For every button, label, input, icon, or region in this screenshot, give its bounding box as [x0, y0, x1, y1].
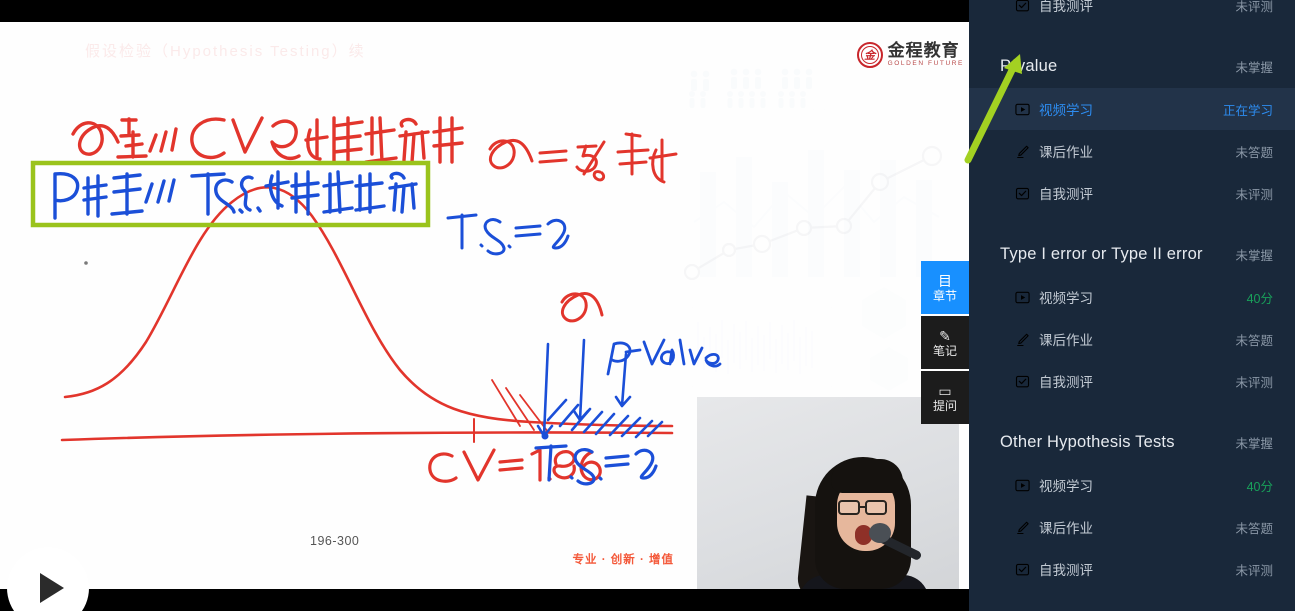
brand-seal-icon: 金 [857, 42, 883, 68]
row-left: 视频学习 [1015, 99, 1093, 119]
row-status: 未评测 [1235, 184, 1273, 203]
play-icon [40, 573, 64, 603]
tool-label-notes: 笔记 [933, 345, 957, 357]
section-spacer [969, 214, 1295, 231]
row-left: 自我测评 [1015, 0, 1093, 15]
ink-text-line2 [55, 172, 416, 218]
tool-label-ask: 提问 [933, 400, 957, 412]
row-status: 未答题 [1235, 330, 1273, 349]
row-status: 40分 [1247, 288, 1273, 307]
section-title: Type I error or Type II error [1000, 245, 1203, 264]
section-title: Other Hypothesis Tests [1000, 433, 1175, 452]
highlight-box [33, 163, 428, 225]
row-label: 视频学习 [1039, 99, 1093, 119]
brand-name-cn: 金程教育 [888, 42, 964, 59]
outline-row-视频学习[interactable]: 视频学习正在学习 [969, 88, 1295, 130]
outline-row-自我测评[interactable]: 自我测评未评测 [969, 0, 1295, 26]
checkbox-icon [1015, 0, 1030, 13]
slide-page-number: 196-300 [310, 534, 359, 548]
pencil-icon [1015, 332, 1030, 347]
pencil-icon: ✎ [939, 329, 951, 343]
outline-row-课后作业[interactable]: 课后作业未答题 [969, 506, 1295, 548]
brand-slogan: 专业 · 创新 · 增值 [573, 551, 674, 567]
pencil-icon [1015, 144, 1030, 159]
brand-name-en: GOLDEN FUTURE [888, 59, 964, 69]
tool-label-chapters: 章节 [933, 290, 957, 302]
row-label: 课后作业 [1039, 517, 1093, 537]
video-icon [1015, 102, 1030, 117]
section-header[interactable]: P-value未掌握 [969, 43, 1295, 88]
course-outline-sidebar[interactable]: 自我测评未评测P-value未掌握视频学习正在学习课后作业未答题自我测评未评测T… [969, 0, 1295, 611]
outline-section: Type I error or Type II error未掌握视频学习40分课… [969, 231, 1295, 419]
video-player[interactable]: 假设检验（Hypothesis Testing）续 [0, 0, 969, 611]
tool-button-ask[interactable]: ▭ 提问 [921, 371, 969, 424]
instructor-webcam[interactable] [697, 397, 959, 589]
row-left: 课后作业 [1015, 141, 1093, 161]
video-icon [1015, 290, 1030, 305]
section-title: P-value [1000, 57, 1057, 76]
row-status: 40分 [1247, 476, 1273, 495]
row-status: 未答题 [1235, 142, 1273, 161]
slide-title: 假设检验（Hypothesis Testing）续 [85, 40, 366, 61]
webcam-glasses-bridge [860, 506, 867, 508]
floating-tool-buttons: 目 章节 ✎ 笔记 ▭ 提问 [921, 261, 969, 426]
ink-text-line1 [73, 118, 462, 163]
webcam-glasses-left [838, 500, 860, 515]
ink-ts-top [448, 215, 568, 254]
brand-logo: 金 金程教育 GOLDEN FUTURE [857, 42, 964, 69]
row-label: 课后作业 [1039, 141, 1093, 161]
checkbox-icon [1015, 186, 1030, 201]
row-label: 视频学习 [1039, 475, 1093, 495]
row-left: 课后作业 [1015, 329, 1093, 349]
section-status: 未掌握 [1235, 57, 1273, 76]
section-header[interactable]: Other Hypothesis Tests未掌握 [969, 419, 1295, 464]
microphone-head [869, 523, 891, 543]
row-status: 正在学习 [1223, 100, 1273, 119]
row-left: 自我测评 [1015, 559, 1093, 579]
checkbox-icon [1015, 374, 1030, 389]
brand-seal-char: 金 [864, 47, 875, 63]
tool-button-notes[interactable]: ✎ 笔记 [921, 316, 969, 369]
ink-alpha-level [490, 134, 676, 182]
outline-row-视频学习[interactable]: 视频学习40分 [969, 276, 1295, 318]
row-status: 未评测 [1235, 560, 1273, 579]
section-spacer [969, 590, 1295, 607]
row-label: 自我测评 [1039, 0, 1093, 15]
webcam-fringe [831, 459, 903, 493]
ink-blue-arrows [538, 340, 662, 440]
section-status: 未掌握 [1235, 433, 1273, 452]
outline-section: 自我测评未评测 [969, 0, 1295, 43]
outline-row-课后作业[interactable]: 课后作业未答题 [969, 318, 1295, 360]
row-left: 课后作业 [1015, 517, 1093, 537]
section-spacer [969, 26, 1295, 43]
outline-row-课后作业[interactable]: 课后作业未答题 [969, 130, 1295, 172]
video-icon [1015, 478, 1030, 493]
row-label: 自我测评 [1039, 371, 1093, 391]
row-label: 课后作业 [1039, 329, 1093, 349]
row-status: 未答题 [1235, 518, 1273, 537]
ink-stray-dot [84, 261, 88, 265]
row-status: 未评测 [1235, 372, 1273, 391]
pencil-icon [1015, 520, 1030, 535]
section-header[interactable]: Type I error or Type II error未掌握 [969, 231, 1295, 276]
webcam-glasses-right [865, 500, 887, 515]
outline-row-视频学习[interactable]: 视频学习40分 [969, 464, 1295, 506]
chat-icon: ▭ [938, 384, 951, 398]
row-left: 视频学习 [1015, 475, 1093, 495]
tool-button-chapters[interactable]: 目 章节 [921, 261, 969, 314]
row-left: 视频学习 [1015, 287, 1093, 307]
outline-section: P-value未掌握视频学习正在学习课后作业未答题自我测评未评测 [969, 43, 1295, 231]
lecture-slide: 假设检验（Hypothesis Testing）续 [0, 22, 969, 589]
row-left: 自我测评 [1015, 371, 1093, 391]
outline-row-自我测评[interactable]: 自我测评未评测 [969, 548, 1295, 590]
ink-cv-label [430, 450, 600, 481]
row-label: 自我测评 [1039, 559, 1093, 579]
ink-ts-label [536, 446, 656, 484]
row-label: 视频学习 [1039, 287, 1093, 307]
row-left: 自我测评 [1015, 183, 1093, 203]
outline-row-自我测评[interactable]: 自我测评未评测 [969, 360, 1295, 402]
outline-section: Other Hypothesis Tests未掌握视频学习40分课后作业未答题自… [969, 419, 1295, 607]
course-player-app: 假设检验（Hypothesis Testing）续 [0, 0, 1295, 611]
ink-alpha-label [562, 294, 602, 321]
checkbox-icon [1015, 562, 1030, 577]
outline-row-自我测评[interactable]: 自我测评未评测 [969, 172, 1295, 214]
row-label: 自我测评 [1039, 183, 1093, 203]
row-status: 未评测 [1235, 0, 1273, 15]
section-status: 未掌握 [1235, 245, 1273, 264]
list-icon: 目 [938, 274, 952, 288]
section-spacer [969, 402, 1295, 419]
